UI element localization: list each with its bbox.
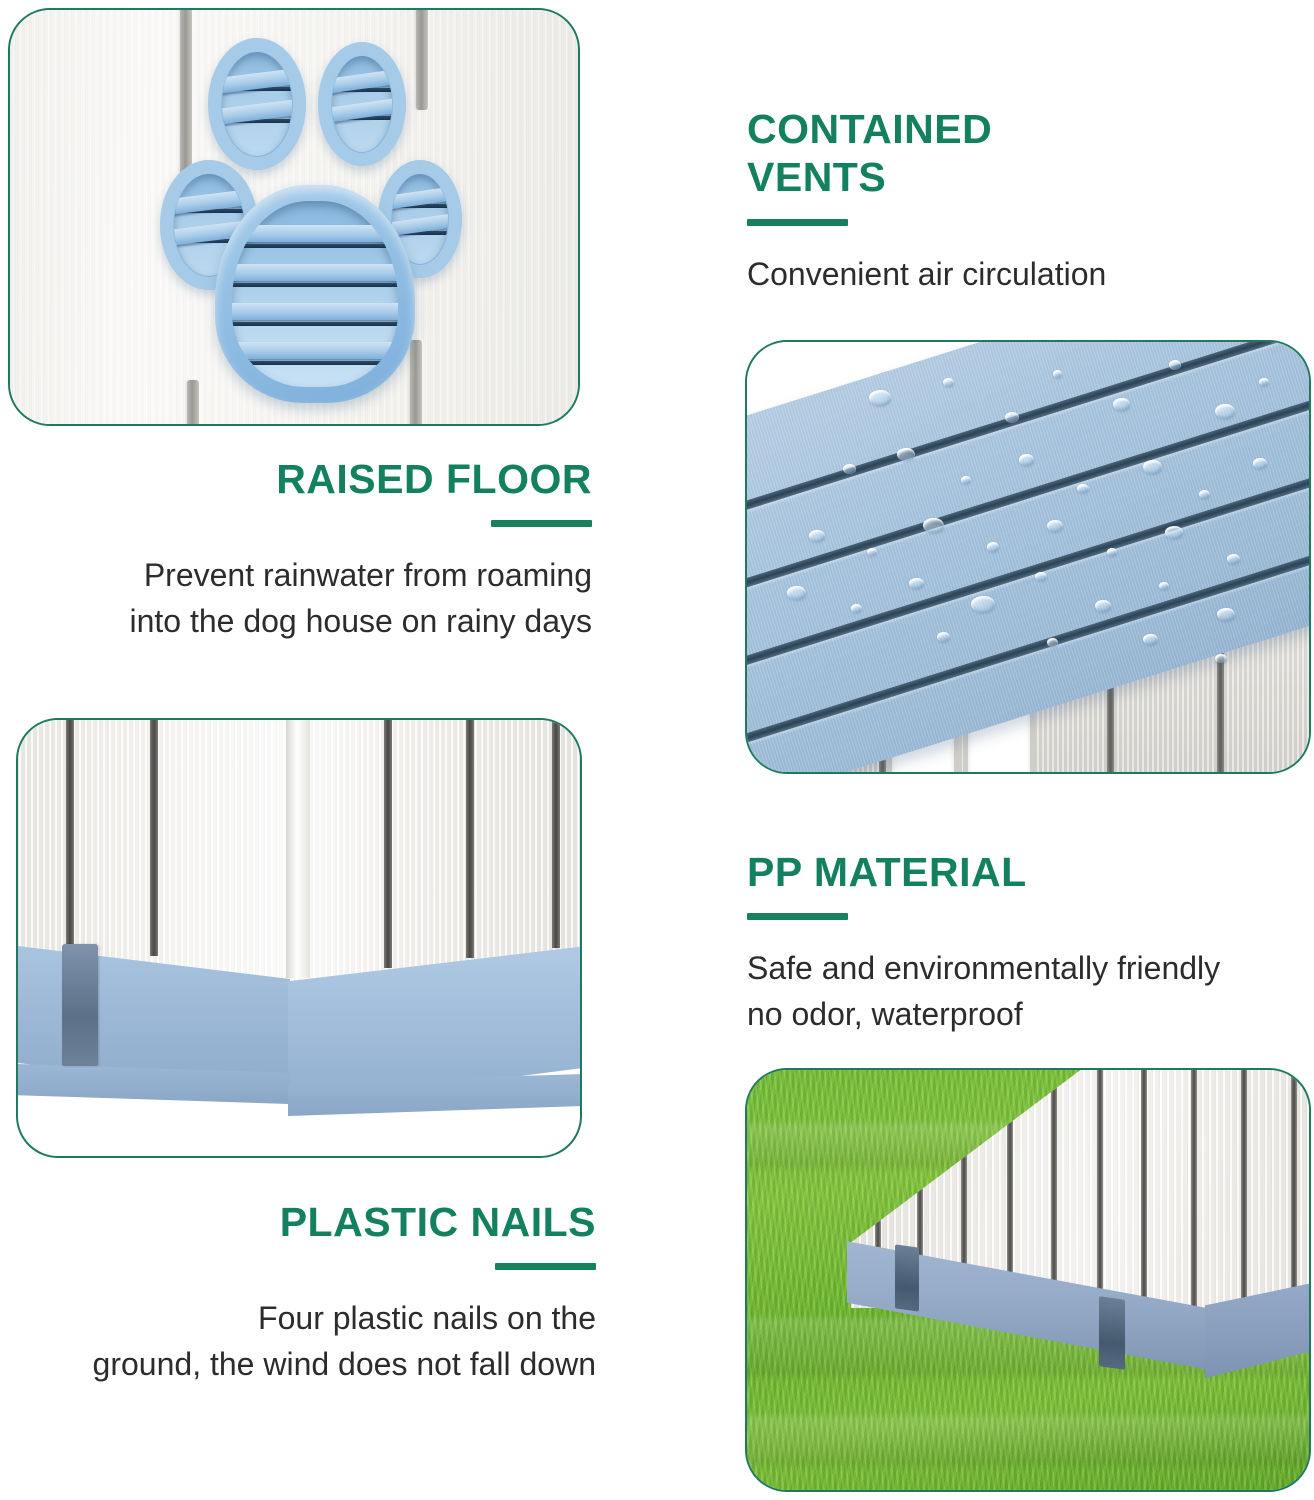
vent-well <box>222 52 292 156</box>
siding-groove <box>187 380 199 426</box>
wall-seam <box>1141 1068 1147 1308</box>
feature-heading: RAISED FLOOR <box>30 455 592 503</box>
plank-seam <box>150 720 158 956</box>
water-droplet <box>961 476 971 484</box>
water-droplet <box>943 378 954 387</box>
vent-well <box>232 201 398 387</box>
water-droplet <box>1199 490 1210 499</box>
roof-scene <box>747 342 1309 772</box>
water-droplet <box>1107 548 1117 556</box>
feature-description: Prevent rainwater from roaming into the … <box>30 553 592 644</box>
vent-paw-pad <box>215 185 415 403</box>
plank-seam <box>66 720 74 948</box>
water-droplet <box>851 604 862 613</box>
water-droplet <box>1259 378 1269 386</box>
grass-anchor-photo <box>745 1068 1311 1492</box>
vent-toe-oval <box>208 38 306 170</box>
water-droplet <box>1217 608 1235 621</box>
heading-divider <box>495 1263 596 1270</box>
heading-divider <box>491 520 592 527</box>
water-droplet <box>937 632 950 642</box>
water-droplet <box>897 448 915 461</box>
siding-groove <box>410 340 422 426</box>
base-tray-scene <box>18 720 580 1156</box>
plank-seam <box>384 720 392 968</box>
water-droplet <box>809 530 825 542</box>
base-tray-photo <box>16 718 582 1158</box>
water-droplet <box>1227 554 1240 564</box>
vent-toe-oval <box>318 42 406 166</box>
water-droplet <box>1019 454 1034 466</box>
plastic-base-tray <box>18 946 580 1156</box>
vent-well <box>332 56 392 152</box>
waterproof-roof-photo <box>745 340 1311 774</box>
plastic-nail <box>895 1244 919 1311</box>
feature-heading: PP MATERIAL <box>747 848 1299 896</box>
water-droplet <box>1005 412 1019 423</box>
siding-groove <box>180 8 192 190</box>
water-droplet <box>1035 572 1047 581</box>
water-droplet <box>1253 458 1267 469</box>
water-droplet <box>1113 398 1130 411</box>
water-droplet <box>1169 360 1181 370</box>
water-droplet <box>1165 526 1183 539</box>
water-droplet <box>787 586 806 600</box>
wall-seam <box>1097 1068 1103 1308</box>
feature-text-plastic-nails: PLASTIC NAILS Four plastic nails on the … <box>18 1198 596 1387</box>
plank-seam <box>552 720 560 948</box>
water-droplet <box>1095 600 1111 612</box>
water-droplet <box>987 542 999 552</box>
water-droplet <box>1143 460 1162 474</box>
water-droplet <box>1215 404 1235 419</box>
water-droplet <box>843 464 856 474</box>
paw-vent-scene <box>10 10 578 424</box>
water-droplet <box>1215 654 1227 663</box>
wall-corner-edge <box>286 720 310 978</box>
feature-heading: CONTAINED VENTS <box>747 105 1292 202</box>
water-droplet <box>1047 520 1063 532</box>
plastic-nail <box>62 944 98 1066</box>
feature-description: Convenient air circulation <box>747 252 1292 297</box>
plastic-nail <box>1099 1296 1125 1370</box>
grass-scene <box>747 1070 1309 1490</box>
water-droplet <box>1143 634 1158 645</box>
feature-text-pp-material: PP MATERIAL Safe and environmentally fri… <box>747 848 1299 1037</box>
wall-seam <box>1051 1068 1057 1308</box>
water-droplet <box>1077 484 1089 493</box>
water-droplet <box>909 578 924 589</box>
feature-text-raised-floor: RAISED FLOOR Prevent rainwater from roam… <box>30 455 592 644</box>
water-droplet <box>867 548 877 556</box>
feature-text-contained-vents: CONTAINED VENTS Convenient air circulati… <box>747 105 1292 297</box>
water-droplet <box>1053 370 1062 378</box>
infographic-canvas: CONTAINED VENTS Convenient air circulati… <box>0 0 1314 1500</box>
siding-groove <box>416 8 428 110</box>
water-droplet <box>971 596 995 613</box>
feature-description: Four plastic nails on the ground, the wi… <box>18 1296 596 1387</box>
plank-seam <box>466 720 474 958</box>
water-droplet <box>869 390 891 406</box>
water-droplet <box>923 518 944 533</box>
heading-divider <box>747 913 848 920</box>
feature-description: Safe and environmentally friendly no odo… <box>747 946 1299 1037</box>
wall-seam <box>1241 1068 1247 1308</box>
paw-vent-photo <box>8 8 580 426</box>
heading-divider <box>747 219 848 226</box>
wall-seam <box>1291 1068 1297 1308</box>
feature-heading: PLASTIC NAILS <box>18 1198 596 1246</box>
water-droplet <box>1159 582 1169 590</box>
wall-seam <box>1191 1068 1197 1308</box>
water-droplet <box>1047 638 1058 647</box>
grass-shade-band <box>745 1416 1311 1466</box>
